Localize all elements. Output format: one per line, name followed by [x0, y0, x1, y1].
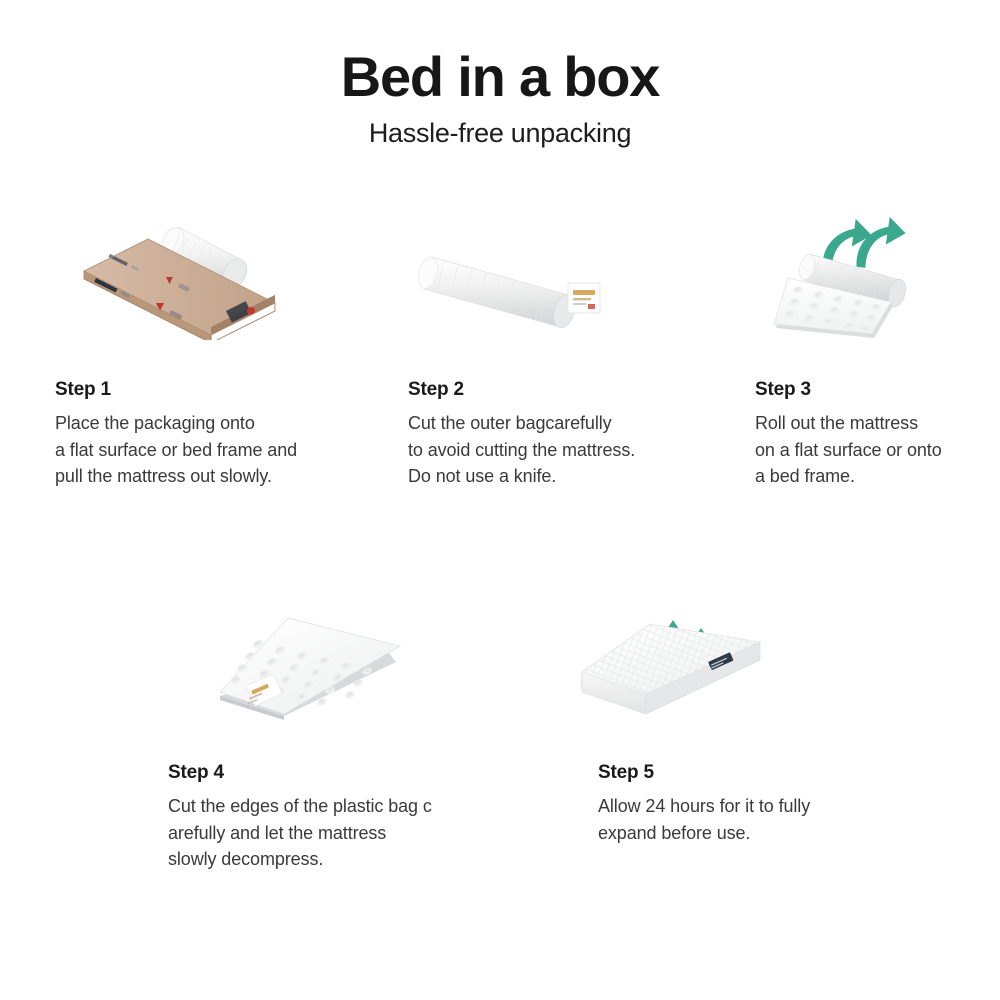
step-4-heading: Step 4: [168, 762, 498, 784]
step-3-body: Roll out the mattress on a flat surface …: [755, 410, 995, 490]
page-header: Bed in a box Hassle-free unpacking: [0, 48, 1000, 149]
step-block-4: Step 4 Cut the edges of the plastic bag …: [168, 762, 498, 873]
step-5-heading: Step 5: [598, 762, 928, 784]
carton-box-with-rolled-mattress-illustration: [70, 215, 285, 340]
page-subtitle: Hassle-free unpacking: [0, 119, 1000, 149]
step-2-heading: Step 2: [408, 379, 738, 401]
step-block-3: Step 3 Roll out the mattress on a flat s…: [755, 379, 995, 490]
rolled-mattress-in-bag-illustration: [410, 235, 610, 340]
unrolling-mattress-illustration: [752, 210, 947, 340]
page-title: Bed in a box: [0, 48, 1000, 105]
step-block-5: Step 5 Allow 24 hours for it to fully ex…: [598, 762, 928, 846]
expanded-mattress-illustration: [570, 598, 770, 723]
rolled-mattress-shape: [415, 255, 578, 330]
step-1-body: Place the packaging onto a flat surface …: [55, 410, 385, 490]
product-end-label: [568, 283, 600, 313]
step-5-body: Allow 24 hours for it to fully expand be…: [598, 793, 928, 846]
step-block-1: Step 1 Place the packaging onto a flat s…: [55, 379, 385, 490]
step-2-body: Cut the outer bagcarefully to avoid cutt…: [408, 410, 738, 490]
step-3-heading: Step 3: [755, 379, 995, 401]
flat-wrapped-mattress-illustration: [210, 600, 410, 725]
step-1-heading: Step 1: [55, 379, 385, 401]
expanded-mattress-shape: [581, 624, 760, 714]
step-4-body: Cut the edges of the plastic bag c arefu…: [168, 793, 498, 873]
step-block-2: Step 2 Cut the outer bagcarefully to avo…: [408, 379, 738, 490]
